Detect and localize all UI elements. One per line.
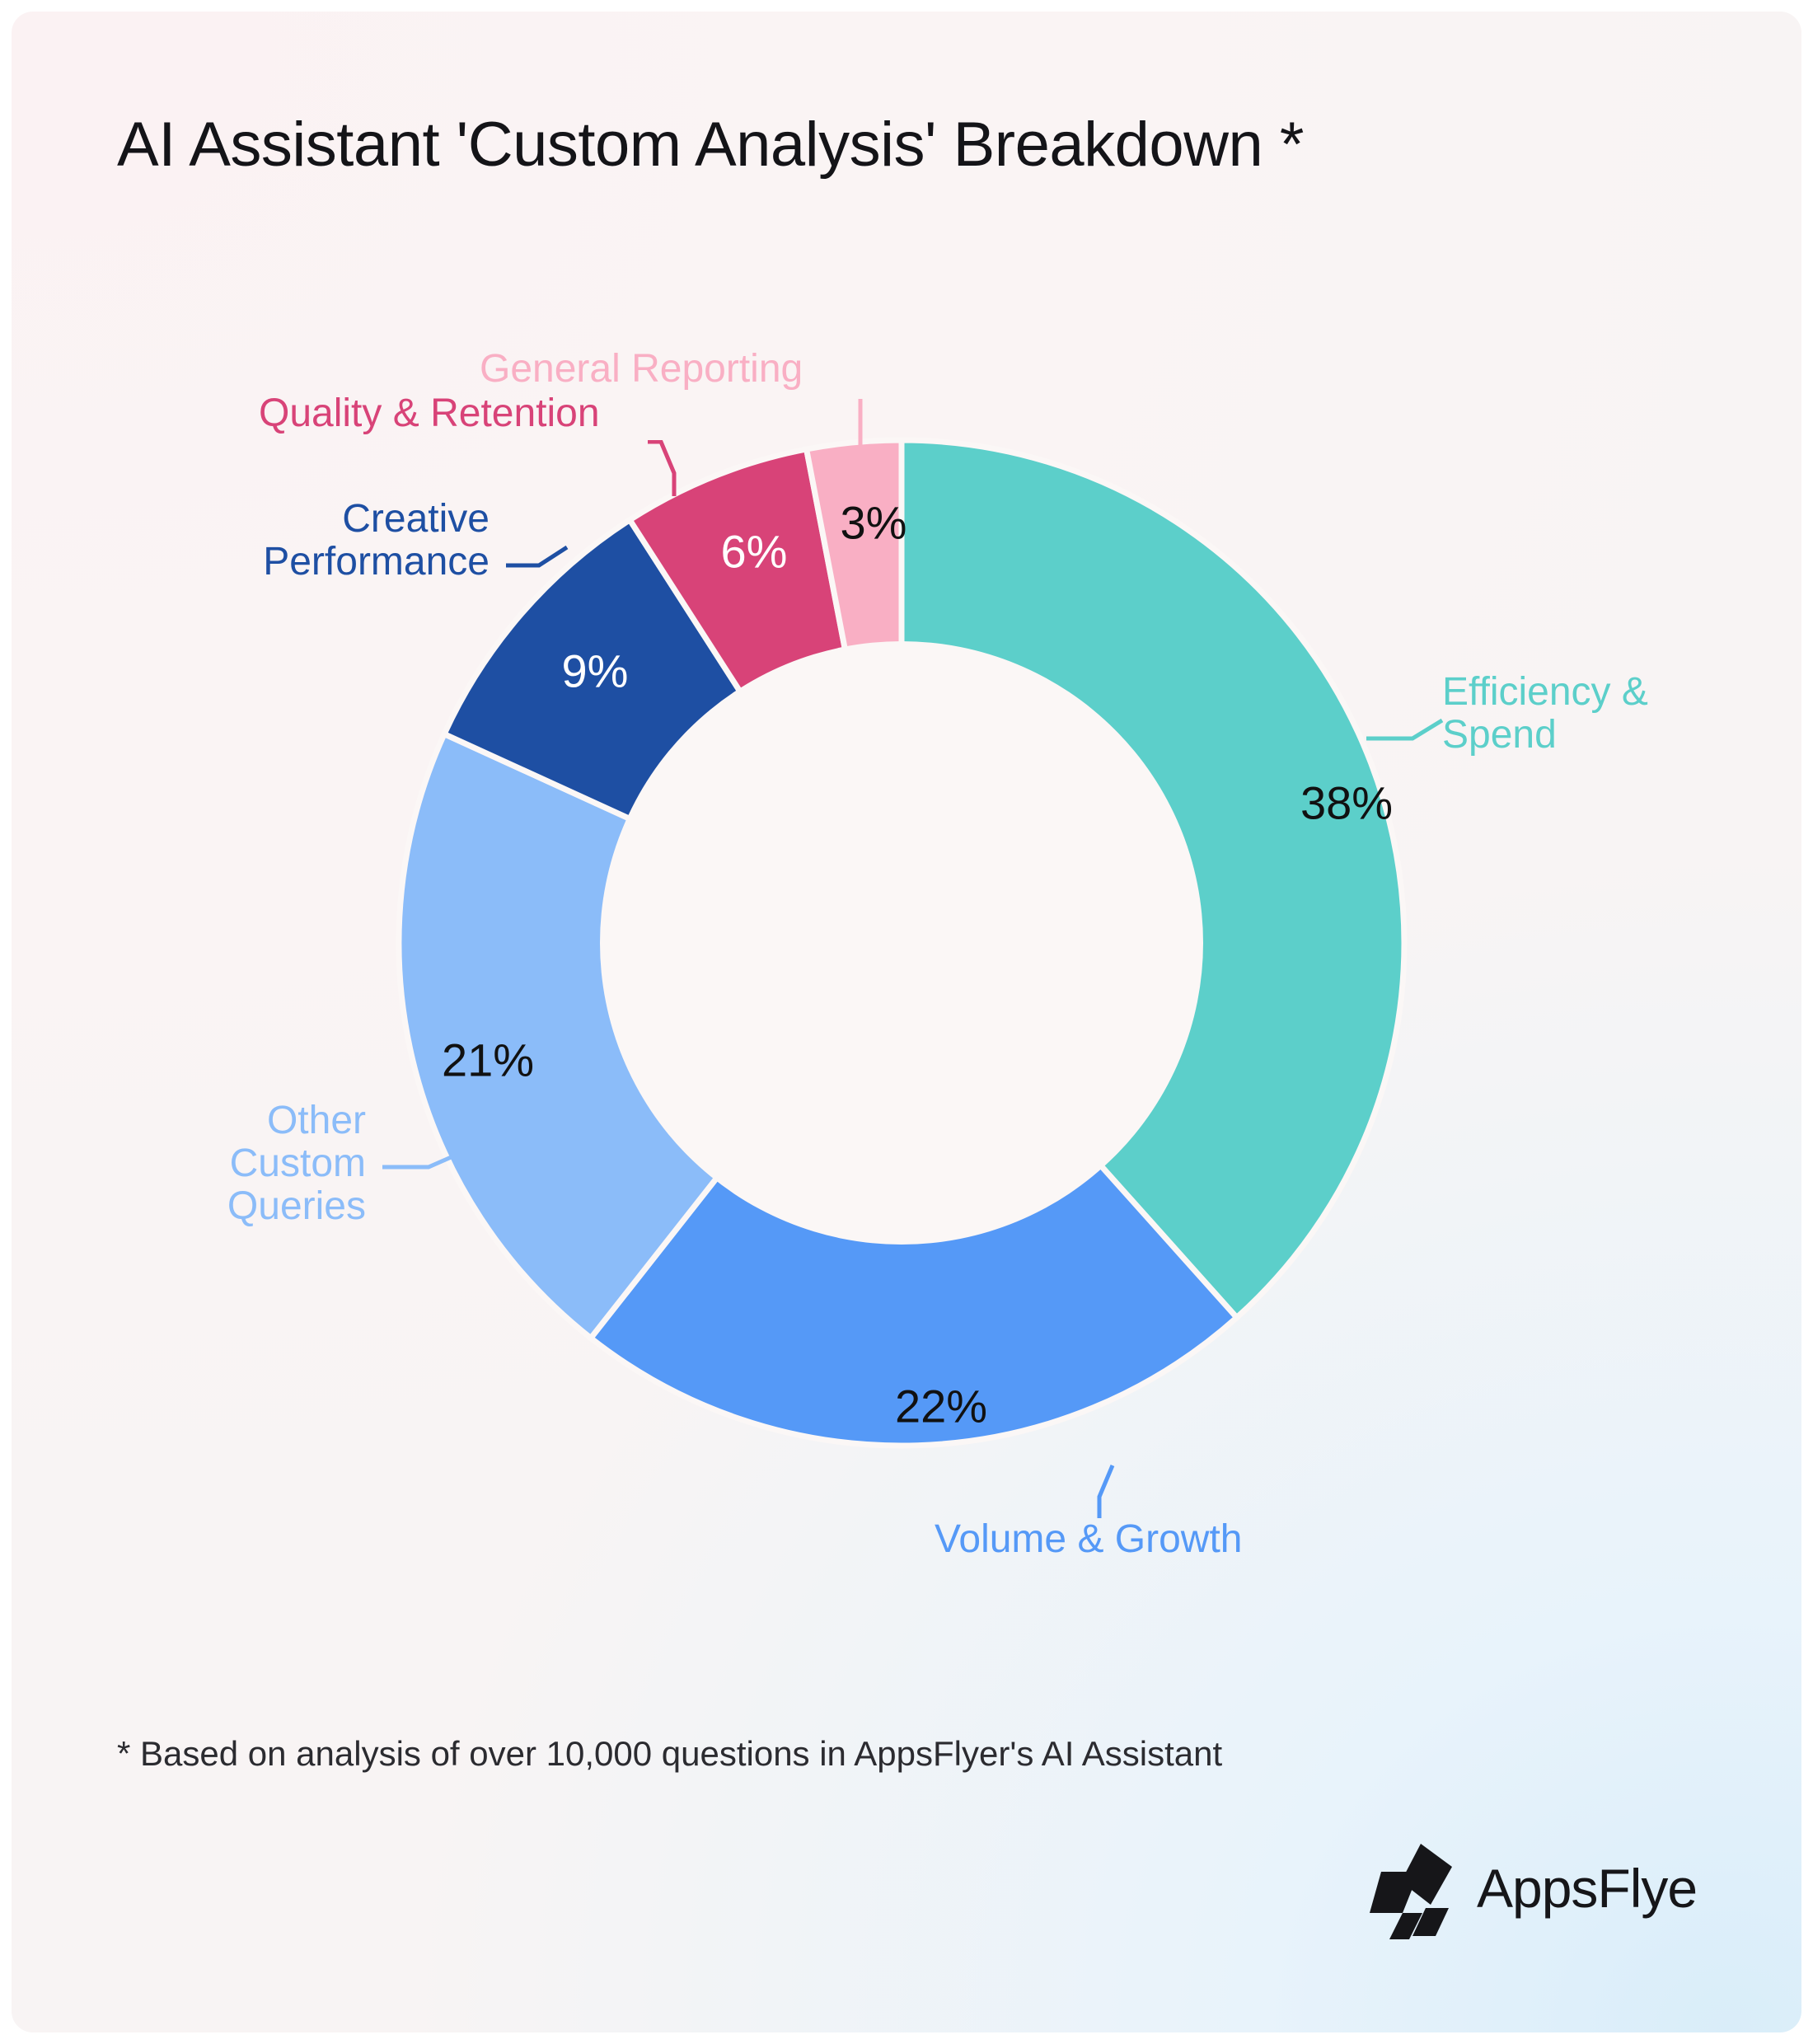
leader-line-quality-retention xyxy=(646,440,679,498)
value-label-volume-growth: 22% xyxy=(895,1380,987,1433)
value-label-quality-retention: 6% xyxy=(721,525,788,579)
value-label-creative-performance: 9% xyxy=(562,645,629,698)
donut-hole xyxy=(600,641,1203,1245)
category-label-efficiency-spend: Efficiency &Spend xyxy=(1442,671,1648,757)
category-label-creative-performance: CreativePerformance xyxy=(110,498,490,584)
category-label-quality-retention: Quality & Retention xyxy=(259,392,600,435)
leader-line-volume-growth xyxy=(1075,1464,1116,1521)
other-custom-queries-line1: Other xyxy=(267,1099,366,1142)
category-label-volume-growth: Volume & Growth xyxy=(935,1518,1243,1561)
efficiency-spend-line1: Efficiency & xyxy=(1442,670,1648,714)
value-label-other-custom-queries: 21% xyxy=(442,1034,534,1087)
leader-line-general-reporting xyxy=(850,399,870,448)
appsflyer-diamond-mark xyxy=(1370,1842,1462,1939)
leader-line-efficiency-spend xyxy=(1365,702,1444,742)
other-custom-queries-line2: Custom xyxy=(230,1142,366,1185)
footnote-text: * Based on analysis of over 10,000 quest… xyxy=(117,1734,1222,1774)
category-label-other-custom-queries: OtherCustomQueries xyxy=(127,1099,366,1227)
value-label-general-reporting: 3% xyxy=(841,496,907,550)
infographic-card: AI Assistant 'Custom Analysis' Breakdown… xyxy=(12,12,1801,2032)
leader-line-creative-performance xyxy=(504,546,570,584)
page-title: AI Assistant 'Custom Analysis' Breakdown… xyxy=(117,109,1304,180)
appsflyer-wordmark: AppsFlyer xyxy=(1477,1856,1698,1925)
value-label-efficiency-spend: 38% xyxy=(1300,776,1393,830)
creative-performance-line1: Creative xyxy=(342,497,490,541)
appsflyer-wordmark-text: AppsFlyer xyxy=(1477,1858,1698,1919)
leader-line-other-custom-queries xyxy=(381,1139,458,1172)
other-custom-queries-line3: Queries xyxy=(227,1184,366,1228)
creative-performance-line2: Performance xyxy=(263,540,490,584)
efficiency-spend-line2: Spend xyxy=(1442,713,1557,757)
appsflyer-logo: AppsFlyer xyxy=(1370,1841,1698,1940)
category-label-general-reporting: General Reporting xyxy=(480,348,803,391)
